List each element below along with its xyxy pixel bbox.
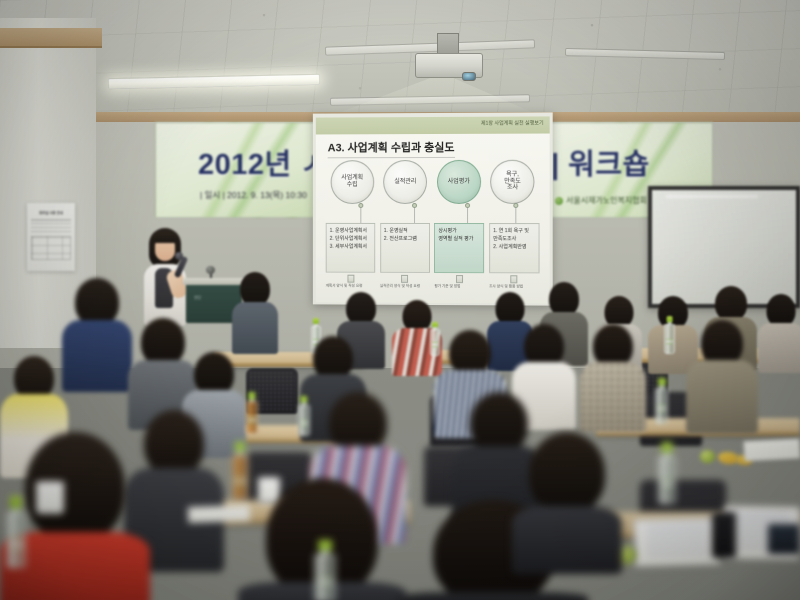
notice-line xyxy=(31,227,71,229)
audience-person xyxy=(580,324,646,430)
person-head xyxy=(141,318,185,366)
whiteboard-glare xyxy=(666,195,758,198)
slide-box-1-line2: 2. 단위사업계획서 xyxy=(330,236,372,244)
bottle-body xyxy=(298,405,310,436)
bottle-body xyxy=(655,388,668,424)
beverage-bottle xyxy=(298,396,310,436)
slide-box-4-line2: 만족도조사 xyxy=(493,236,535,244)
notice-line xyxy=(31,219,71,221)
person-head xyxy=(144,410,204,476)
slide-node-2-line1: 실적관리 xyxy=(394,179,416,186)
bottle-body xyxy=(658,456,676,504)
slide-box-1-line3: 3. 세부사업계획서 xyxy=(330,243,372,251)
slide-box-2-line2: 2. 전산프로그램 xyxy=(384,236,426,244)
slide-box-3-line1: 상시평가 xyxy=(438,228,480,236)
beverage-bottle xyxy=(246,392,258,434)
slide-header-band: 제1장 사업계획 실천 실행보기 xyxy=(316,116,550,134)
notice-table-grid xyxy=(31,236,71,260)
slide-node-1-line2: 수립 xyxy=(347,182,358,189)
slide-node-3-line1: 사업평가 xyxy=(448,178,470,185)
person-head xyxy=(329,392,387,454)
person-head xyxy=(75,278,119,326)
workshop-booklet xyxy=(633,517,720,567)
person-head xyxy=(529,432,605,514)
beverage-bottle xyxy=(6,496,26,568)
wall-notice-title: 회의실 사용 안내 xyxy=(31,210,71,215)
seminar-room-photo: 회의실 사용 안내 2012년 ㅅ | 일시 | 2012. 9. 13(목) … xyxy=(0,0,800,600)
slide-box-3-line2: 영역별 실적 평가 xyxy=(438,236,480,244)
notice-line xyxy=(31,223,71,225)
person-head xyxy=(240,272,270,306)
dark-folder xyxy=(712,512,736,558)
person-head xyxy=(715,286,747,321)
notice-line xyxy=(31,231,71,233)
paper-cup xyxy=(36,482,64,514)
slide-node-4-line1: 욕구, xyxy=(506,171,519,178)
bottle-body xyxy=(314,554,336,600)
document-icon xyxy=(401,275,408,283)
banner-left: 2012년 ㅅ | 일시 | 2012. 9. 13(목) 10:30 xyxy=(155,122,330,218)
beverage-bottle xyxy=(664,316,675,354)
slide-connector-row xyxy=(326,205,540,223)
slide-connector-dot-4 xyxy=(513,203,518,208)
podium-microphone-icon xyxy=(206,266,215,274)
handout-papers xyxy=(744,439,800,462)
slide-box-1: 1. 운영사업계획서 2. 단위사업계획서 3. 세부사업계획서 xyxy=(326,223,376,273)
person-torso xyxy=(512,506,622,574)
banner-right-title: | 워크숍 xyxy=(551,141,650,183)
audience-person xyxy=(62,278,132,390)
microphone-head xyxy=(175,252,183,260)
document-icon xyxy=(511,275,518,283)
audience-person xyxy=(232,272,278,354)
person-head xyxy=(549,282,579,316)
slide-box-row: 1. 운영사업계획서 2. 단위사업계획서 3. 세부사업계획서 1. 운영실적… xyxy=(326,223,540,273)
person-torso-dotted xyxy=(580,362,646,432)
document-icon xyxy=(347,275,354,283)
bottle-label xyxy=(300,420,308,426)
slide-brand-text: 제1장 사업계획 실천 실행보기 xyxy=(481,119,544,126)
projection-screen: 제1장 사업계획 실천 실행보기 A3. 사업계획 수립과 충실도 사업계획 수… xyxy=(313,112,553,305)
organization-name: 서울시재가노인복지협회 xyxy=(566,195,647,206)
slide-box-3-highlighted: 상시평가 영역별 실적 평가 xyxy=(434,223,484,273)
slide-box-4-line1: 1. 연 1회 욕구 및 xyxy=(493,228,535,236)
bottle-label xyxy=(248,417,256,423)
podium-label: 연단 xyxy=(194,295,201,301)
slide-footnote-4-text: 조사 양식 및 활용 방법 xyxy=(489,284,539,290)
organization-logo-icon xyxy=(555,197,563,205)
slide-footnote-2: 실적관리 양식 및 작성 요령 xyxy=(380,275,430,297)
slide-box-4-line3: 2. 사업계획반영 xyxy=(493,244,535,252)
slide-footnote-1-text: 계획서 양식 및 작성 요령 xyxy=(326,284,376,290)
slide-connector-dot-2 xyxy=(412,203,417,208)
person-head xyxy=(449,330,491,375)
bottle-label xyxy=(8,539,23,550)
cup-rim xyxy=(35,481,65,484)
tablet-device xyxy=(768,524,800,554)
slide-node-row: 사업계획 수립 실적관리 사업평가 욕구, 만족도 조사 xyxy=(326,159,540,205)
person-torso xyxy=(398,592,588,600)
presenter-bangs xyxy=(152,231,178,243)
slide-box-2-line1: 1. 운영실적 xyxy=(384,228,426,236)
bottle-body xyxy=(664,324,675,354)
slide-footnote-3: 평가 기준 및 방법 xyxy=(434,275,484,297)
bottle-body xyxy=(246,401,258,434)
column-cap-trim xyxy=(0,28,102,48)
person-torso xyxy=(758,323,800,373)
person-torso xyxy=(232,302,278,354)
bottle-label xyxy=(660,479,673,488)
slide-node-1: 사업계획 수립 xyxy=(330,160,374,204)
presentation-slide: 제1장 사업계획 실천 실행보기 A3. 사업계획 수립과 충실도 사업계획 수… xyxy=(316,116,550,303)
slide-footnote-2-text: 실적관리 양식 및 작성 요령 xyxy=(380,284,430,290)
ceiling-texture xyxy=(0,0,800,126)
slide-box-4: 1. 연 1회 욕구 및 만족도조사 2. 사업계획반영 xyxy=(489,223,539,273)
bottle-label xyxy=(666,339,674,345)
slide-connector-dot-1 xyxy=(358,203,363,208)
projector-ceiling-mount xyxy=(437,33,459,55)
tangerine xyxy=(700,450,715,463)
slide-node-4-line3: 조사 xyxy=(507,185,518,192)
wall-notice-document: 회의실 사용 안내 xyxy=(27,203,75,271)
audience-person xyxy=(686,320,758,432)
beverage-bottle xyxy=(314,540,336,600)
slide-node-3-highlighted: 사업평가 xyxy=(437,160,481,204)
bottle-label xyxy=(657,405,666,412)
beverage-bottle xyxy=(658,442,676,504)
slide-title: A3. 사업계획 수립과 충실도 xyxy=(328,139,455,158)
person-torso-suit xyxy=(62,320,132,392)
audience-person xyxy=(758,294,800,372)
slide-connector-dot-3 xyxy=(465,203,470,208)
person-torso xyxy=(686,360,758,434)
slide-box-1-line1: 1. 운영사업계획서 xyxy=(330,228,372,236)
banner-right-organization: 서울시재가노인복지협회 xyxy=(555,195,647,206)
ceiling xyxy=(0,0,800,126)
slide-box-2: 1. 운영실적 2. 전산프로그램 xyxy=(380,223,430,273)
banner-left-subtitle: | 일시 | 2012. 9. 13(목) 10:30 xyxy=(200,189,307,201)
tangerine-peel xyxy=(718,452,738,464)
banner-left-title: 2012년 ㅅ xyxy=(198,141,327,183)
booklet-text-lines xyxy=(646,524,707,561)
beverage-bottle xyxy=(655,378,668,424)
slide-node-2: 실적관리 xyxy=(383,160,427,204)
bottle-label xyxy=(317,577,334,586)
bottle-body xyxy=(6,512,26,568)
document-icon xyxy=(456,275,463,283)
projector-lens xyxy=(462,72,476,81)
foreground-person xyxy=(512,432,622,572)
slide-node-4: 욕구, 만족도 조사 xyxy=(490,160,534,204)
slide-node-1-line1: 사업계획 xyxy=(341,175,363,182)
slide-footnote-3-text: 평가 기준 및 방법 xyxy=(434,284,484,290)
